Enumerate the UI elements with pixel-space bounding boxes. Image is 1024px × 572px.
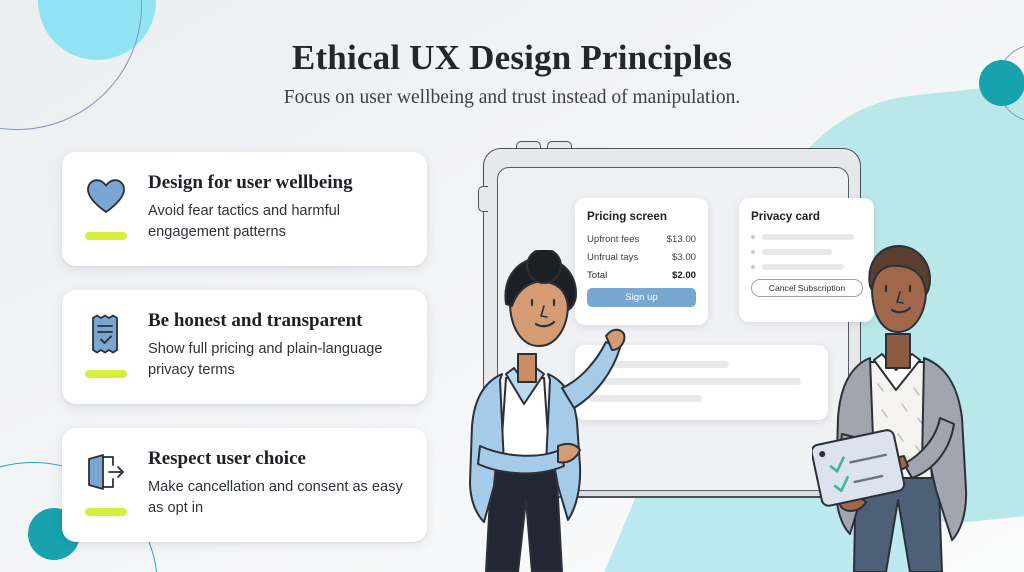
card-text: Design for user wellbeing Avoid fear tac…: [148, 170, 409, 248]
principle-card-2: Be honest and transparent Show full pric…: [62, 290, 427, 404]
card-title: Respect user choice: [148, 448, 409, 470]
accent-bar: [85, 508, 127, 516]
infographic-canvas: Ethical UX Design Principles Focus on us…: [0, 0, 1024, 572]
screen-side-button: [478, 186, 488, 212]
icon-column: [78, 446, 134, 524]
card-title: Design for user wellbeing: [148, 172, 409, 194]
bullet-dot-icon: [751, 265, 755, 269]
principle-card-3: Respect user choice Make cancellation an…: [62, 428, 427, 542]
bullet-dot-icon: [751, 250, 755, 254]
card-description: Show full pricing and plain-language pri…: [148, 339, 409, 381]
observer-man-illustration: [812, 238, 1007, 572]
exit-door-icon: [85, 450, 127, 494]
price-value: $3.00: [672, 252, 696, 263]
privacy-card-title: Privacy card: [751, 210, 862, 223]
presenter-woman-illustration: [440, 250, 640, 572]
icon-column: [78, 170, 134, 248]
receipt-icon: [85, 312, 127, 356]
bullet-dot-icon: [751, 235, 755, 239]
card-description: Avoid fear tactics and harmful engagemen…: [148, 201, 409, 243]
card-title: Be honest and transparent: [148, 310, 409, 332]
card-text: Be honest and transparent Show full pric…: [148, 308, 409, 386]
pricing-card-title: Pricing screen: [587, 210, 696, 223]
price-value: $13.00: [667, 234, 696, 245]
price-value: $2.00: [672, 270, 696, 281]
heart-icon: [85, 174, 127, 218]
card-description: Make cancellation and consent as easy as…: [148, 477, 409, 519]
price-label: Upfront fees: [587, 234, 639, 245]
principle-card-1: Design for user wellbeing Avoid fear tac…: [62, 152, 427, 266]
price-row-upfront-fees: Upfront fees $13.00: [587, 234, 696, 245]
page-title: Ethical UX Design Principles: [0, 38, 1024, 78]
icon-column: [78, 308, 134, 386]
accent-bar: [85, 370, 127, 378]
header: Ethical UX Design Principles Focus on us…: [0, 38, 1024, 109]
principle-card-list: Design for user wellbeing Avoid fear tac…: [62, 152, 427, 566]
page-subtitle: Focus on user wellbeing and trust instea…: [0, 87, 1024, 109]
card-text: Respect user choice Make cancellation an…: [148, 446, 409, 524]
accent-bar: [85, 232, 127, 240]
